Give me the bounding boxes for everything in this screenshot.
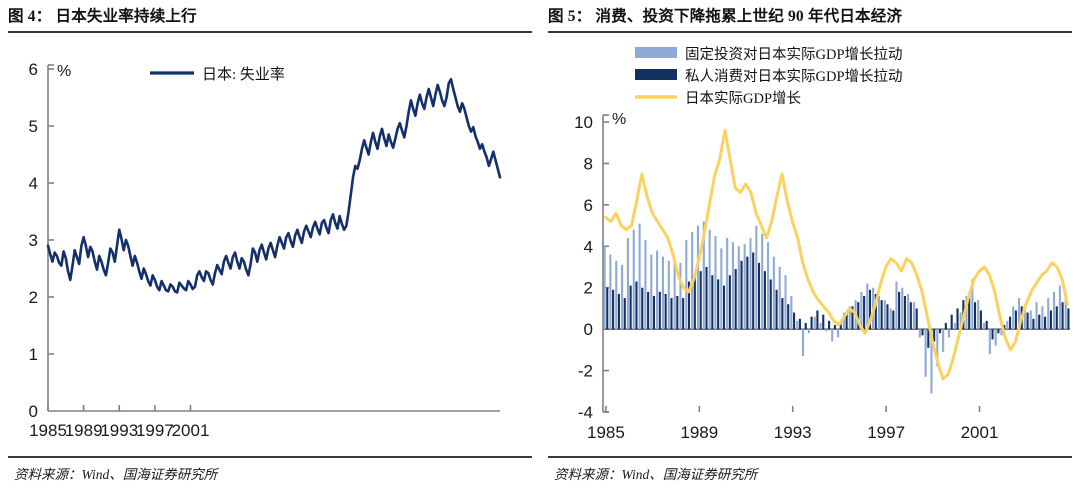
investment-bar [1006, 321, 1008, 329]
consumption-bar [682, 298, 684, 329]
investment-bar [738, 246, 740, 329]
figure-5-source: 资料来源：Wind、国海证券研究所 [554, 463, 757, 483]
consumption-bar [781, 298, 783, 329]
axis-tick-label: -4 [578, 403, 593, 422]
consumption-bar [881, 300, 883, 329]
investment-bar [1059, 286, 1061, 330]
investment-bar [983, 323, 985, 329]
consumption-bar [822, 315, 824, 330]
consumption-bar [1015, 311, 1017, 330]
figure-4-svg: 0123456%19851989199319972001日本: 失业率 [0, 32, 540, 457]
consumption-bar [740, 261, 742, 329]
axis-tick-label: 1 [29, 345, 38, 364]
consumption-bar [653, 296, 655, 329]
axis-tick-label: 6 [584, 196, 593, 215]
investment-bar [732, 242, 734, 329]
axis-tick-label: 2001 [172, 421, 210, 440]
consumption-bar [735, 269, 737, 329]
consumption-bar [921, 329, 923, 335]
consumption-bar [606, 288, 608, 329]
investment-bar [604, 246, 606, 329]
axis-tick-label: 2 [29, 288, 38, 307]
y-axis-unit-label: % [612, 111, 626, 128]
legend-label-unemployment: 日本: 失业率 [202, 66, 285, 83]
investment-bar [662, 257, 664, 330]
axis-tick-label: 1997 [136, 421, 174, 440]
investment-bar [656, 250, 658, 329]
consumption-bar [647, 292, 649, 329]
legend-swatch-bar [635, 47, 677, 58]
real-gdp-growth-line [606, 130, 1068, 379]
figure-4-plot: 0123456%19851989199319972001日本: 失业率 [0, 32, 540, 457]
investment-bar [697, 226, 699, 330]
consumption-bar [956, 308, 958, 329]
investment-bar [773, 257, 775, 330]
consumption-bar [641, 288, 643, 329]
axis-tick-label: 3 [29, 231, 38, 250]
figure-5-title: 图 5： 消费、投资下降拖累上世纪 90 年代日本经济 [548, 4, 1072, 30]
consumption-bar [910, 302, 912, 329]
consumption-bar [1056, 306, 1058, 329]
investment-bar [668, 261, 670, 329]
investment-bar [720, 248, 722, 329]
consumption-bar [1067, 308, 1069, 329]
investment-bar [709, 230, 711, 329]
figure-5-svg: 1086420-2-4%19851989199319972001固定投资对日本实… [540, 32, 1080, 457]
consumption-bar [834, 325, 836, 329]
consumption-bar [705, 267, 707, 329]
axis-tick-label: 6 [29, 60, 38, 79]
consumption-bar [1032, 319, 1034, 329]
investment-bar [825, 329, 827, 331]
axis-tick-label: 1993 [774, 423, 812, 442]
figures-page: 图 4： 日本失业率持续上行 0123456%19851989199319972… [0, 0, 1080, 491]
investment-bar [913, 302, 915, 329]
investment-bar [633, 230, 635, 329]
consumption-bar [828, 321, 830, 329]
axis-tick-label: 0 [584, 320, 593, 339]
axis-tick-label: 8 [584, 154, 593, 173]
consumption-bar [898, 292, 900, 329]
consumption-bar [945, 323, 947, 329]
investment-bar [627, 238, 629, 329]
legend-label-consumption: 私人消费对日本实际GDP增长拉动 [685, 68, 903, 85]
consumption-bar [624, 298, 626, 329]
figure-4-title: 图 4： 日本失业率持续上行 [8, 4, 532, 30]
consumption-bar [635, 282, 637, 330]
axis-tick-label: 5 [29, 117, 38, 136]
axis-tick-label: 1985 [29, 421, 67, 440]
consumption-bar [1044, 317, 1046, 329]
investment-bar [650, 255, 652, 330]
consumption-bar [1027, 313, 1029, 330]
axis-tick-label: 1997 [867, 423, 905, 442]
investment-bar [890, 308, 892, 329]
investment-bar [814, 317, 816, 329]
consumption-bar [776, 290, 778, 329]
investment-bar [866, 284, 868, 330]
consumption-bar [764, 271, 766, 329]
investment-bar [989, 329, 991, 354]
consumption-bar [630, 286, 632, 330]
investment-bar [796, 321, 798, 329]
investment-bar [644, 240, 646, 329]
investment-bar [925, 329, 927, 377]
consumption-bar [717, 279, 719, 329]
consumption-bar [892, 311, 894, 330]
consumption-bar [951, 315, 953, 330]
investment-bar [621, 265, 623, 329]
consumption-bar [939, 329, 941, 333]
consumption-bar [723, 286, 725, 330]
investment-bar [808, 329, 810, 333]
investment-bar [639, 224, 641, 330]
figure-5-plot: 1086420-2-4%19851989199319972001固定投资对日本实… [540, 32, 1080, 457]
investment-bar [1053, 292, 1055, 329]
consumption-bar [1009, 317, 1011, 329]
investment-bar [954, 323, 956, 329]
axis-tick-label: 10 [574, 113, 593, 132]
investment-bar [919, 329, 921, 337]
consumption-bar [746, 257, 748, 330]
consumption-bar [986, 321, 988, 329]
consumption-bar [974, 302, 976, 329]
investment-bar [948, 329, 950, 337]
investment-bar [1030, 311, 1032, 330]
investment-bar [878, 296, 880, 329]
figure-4-source: 资料来源：Wind、国海证券研究所 [14, 463, 217, 483]
investment-bar [907, 294, 909, 329]
investment-bar [831, 329, 833, 341]
investment-bar [995, 329, 997, 346]
axis-tick-label: -2 [578, 362, 593, 381]
axis-tick-label: 1989 [65, 421, 103, 440]
investment-bar [615, 261, 617, 329]
consumption-bar [1050, 311, 1052, 330]
consumption-bar [612, 290, 614, 329]
consumption-bar [787, 304, 789, 329]
consumption-bar [758, 263, 760, 329]
investment-bar [755, 226, 757, 330]
consumption-bar [793, 313, 795, 330]
investment-bar [802, 329, 804, 356]
axis-tick-label: 4 [584, 237, 593, 256]
investment-bar [1035, 302, 1037, 329]
consumption-bar [670, 298, 672, 329]
investment-bar [679, 263, 681, 329]
investment-bar [779, 267, 781, 329]
investment-bar [895, 282, 897, 330]
consumption-bar [916, 308, 918, 329]
axis-tick-label: 4 [29, 174, 38, 193]
figure-4-panel: 图 4： 日本失业率持续上行 0123456%19851989199319972… [0, 0, 540, 491]
axis-tick-label: 1993 [100, 421, 138, 440]
consumption-bar [694, 277, 696, 329]
consumption-bar [863, 296, 865, 329]
investment-bar [609, 255, 611, 330]
y-axis-unit-label: % [57, 63, 71, 80]
consumption-bar [659, 292, 661, 329]
investment-bar [749, 238, 751, 329]
legend-swatch-bar [635, 69, 677, 80]
legend-label-investment: 固定投资对日本实际GDP增长拉动 [685, 46, 903, 63]
consumption-bar [980, 311, 982, 330]
axis-tick-label: 1989 [680, 423, 718, 442]
consumption-bar [729, 275, 731, 329]
consumption-bar [665, 294, 667, 329]
consumption-bar [991, 329, 993, 339]
investment-bar [1047, 298, 1049, 329]
unemployment-rate-line [48, 79, 500, 292]
investment-bar [744, 244, 746, 329]
investment-bar [761, 234, 763, 329]
consumption-bar [1038, 315, 1040, 330]
investment-bar [685, 240, 687, 329]
consumption-bar [700, 271, 702, 329]
investment-bar [820, 323, 822, 329]
consumption-bar [799, 319, 801, 329]
consumption-bar [770, 279, 772, 329]
investment-bar [784, 275, 786, 329]
investment-bar [790, 296, 792, 329]
investment-bar [726, 238, 728, 329]
consumption-bar [676, 296, 678, 329]
consumption-bar [618, 294, 620, 329]
consumption-bar [997, 329, 999, 333]
figure-5-bottom-rule [548, 456, 1072, 458]
investment-bar [714, 236, 716, 329]
axis-tick-label: 2001 [961, 423, 999, 442]
investment-bar [884, 300, 886, 329]
figure-4-bottom-rule [8, 456, 532, 458]
legend-label-gdp: 日本实际GDP增长 [685, 90, 802, 107]
figure-5-panel: 图 5： 消费、投资下降拖累上世纪 90 年代日本经济 1086420-2-4%… [540, 0, 1080, 491]
investment-bar [977, 300, 979, 329]
consumption-bar [904, 296, 906, 329]
investment-bar [767, 242, 769, 329]
axis-tick-label: 1985 [587, 423, 625, 442]
consumption-bar [811, 317, 813, 329]
consumption-bar [1062, 302, 1064, 329]
consumption-bar [886, 304, 888, 329]
investment-bar [837, 329, 839, 337]
investment-bar [1041, 306, 1043, 329]
investment-bar [942, 329, 944, 352]
consumption-bar [816, 311, 818, 330]
consumption-bar [711, 275, 713, 329]
axis-tick-label: 0 [29, 402, 38, 421]
investment-bar [901, 288, 903, 329]
investment-bar [1012, 306, 1014, 329]
axis-tick-label: 2 [584, 279, 593, 298]
consumption-bar [805, 323, 807, 329]
consumption-bar [752, 253, 754, 330]
